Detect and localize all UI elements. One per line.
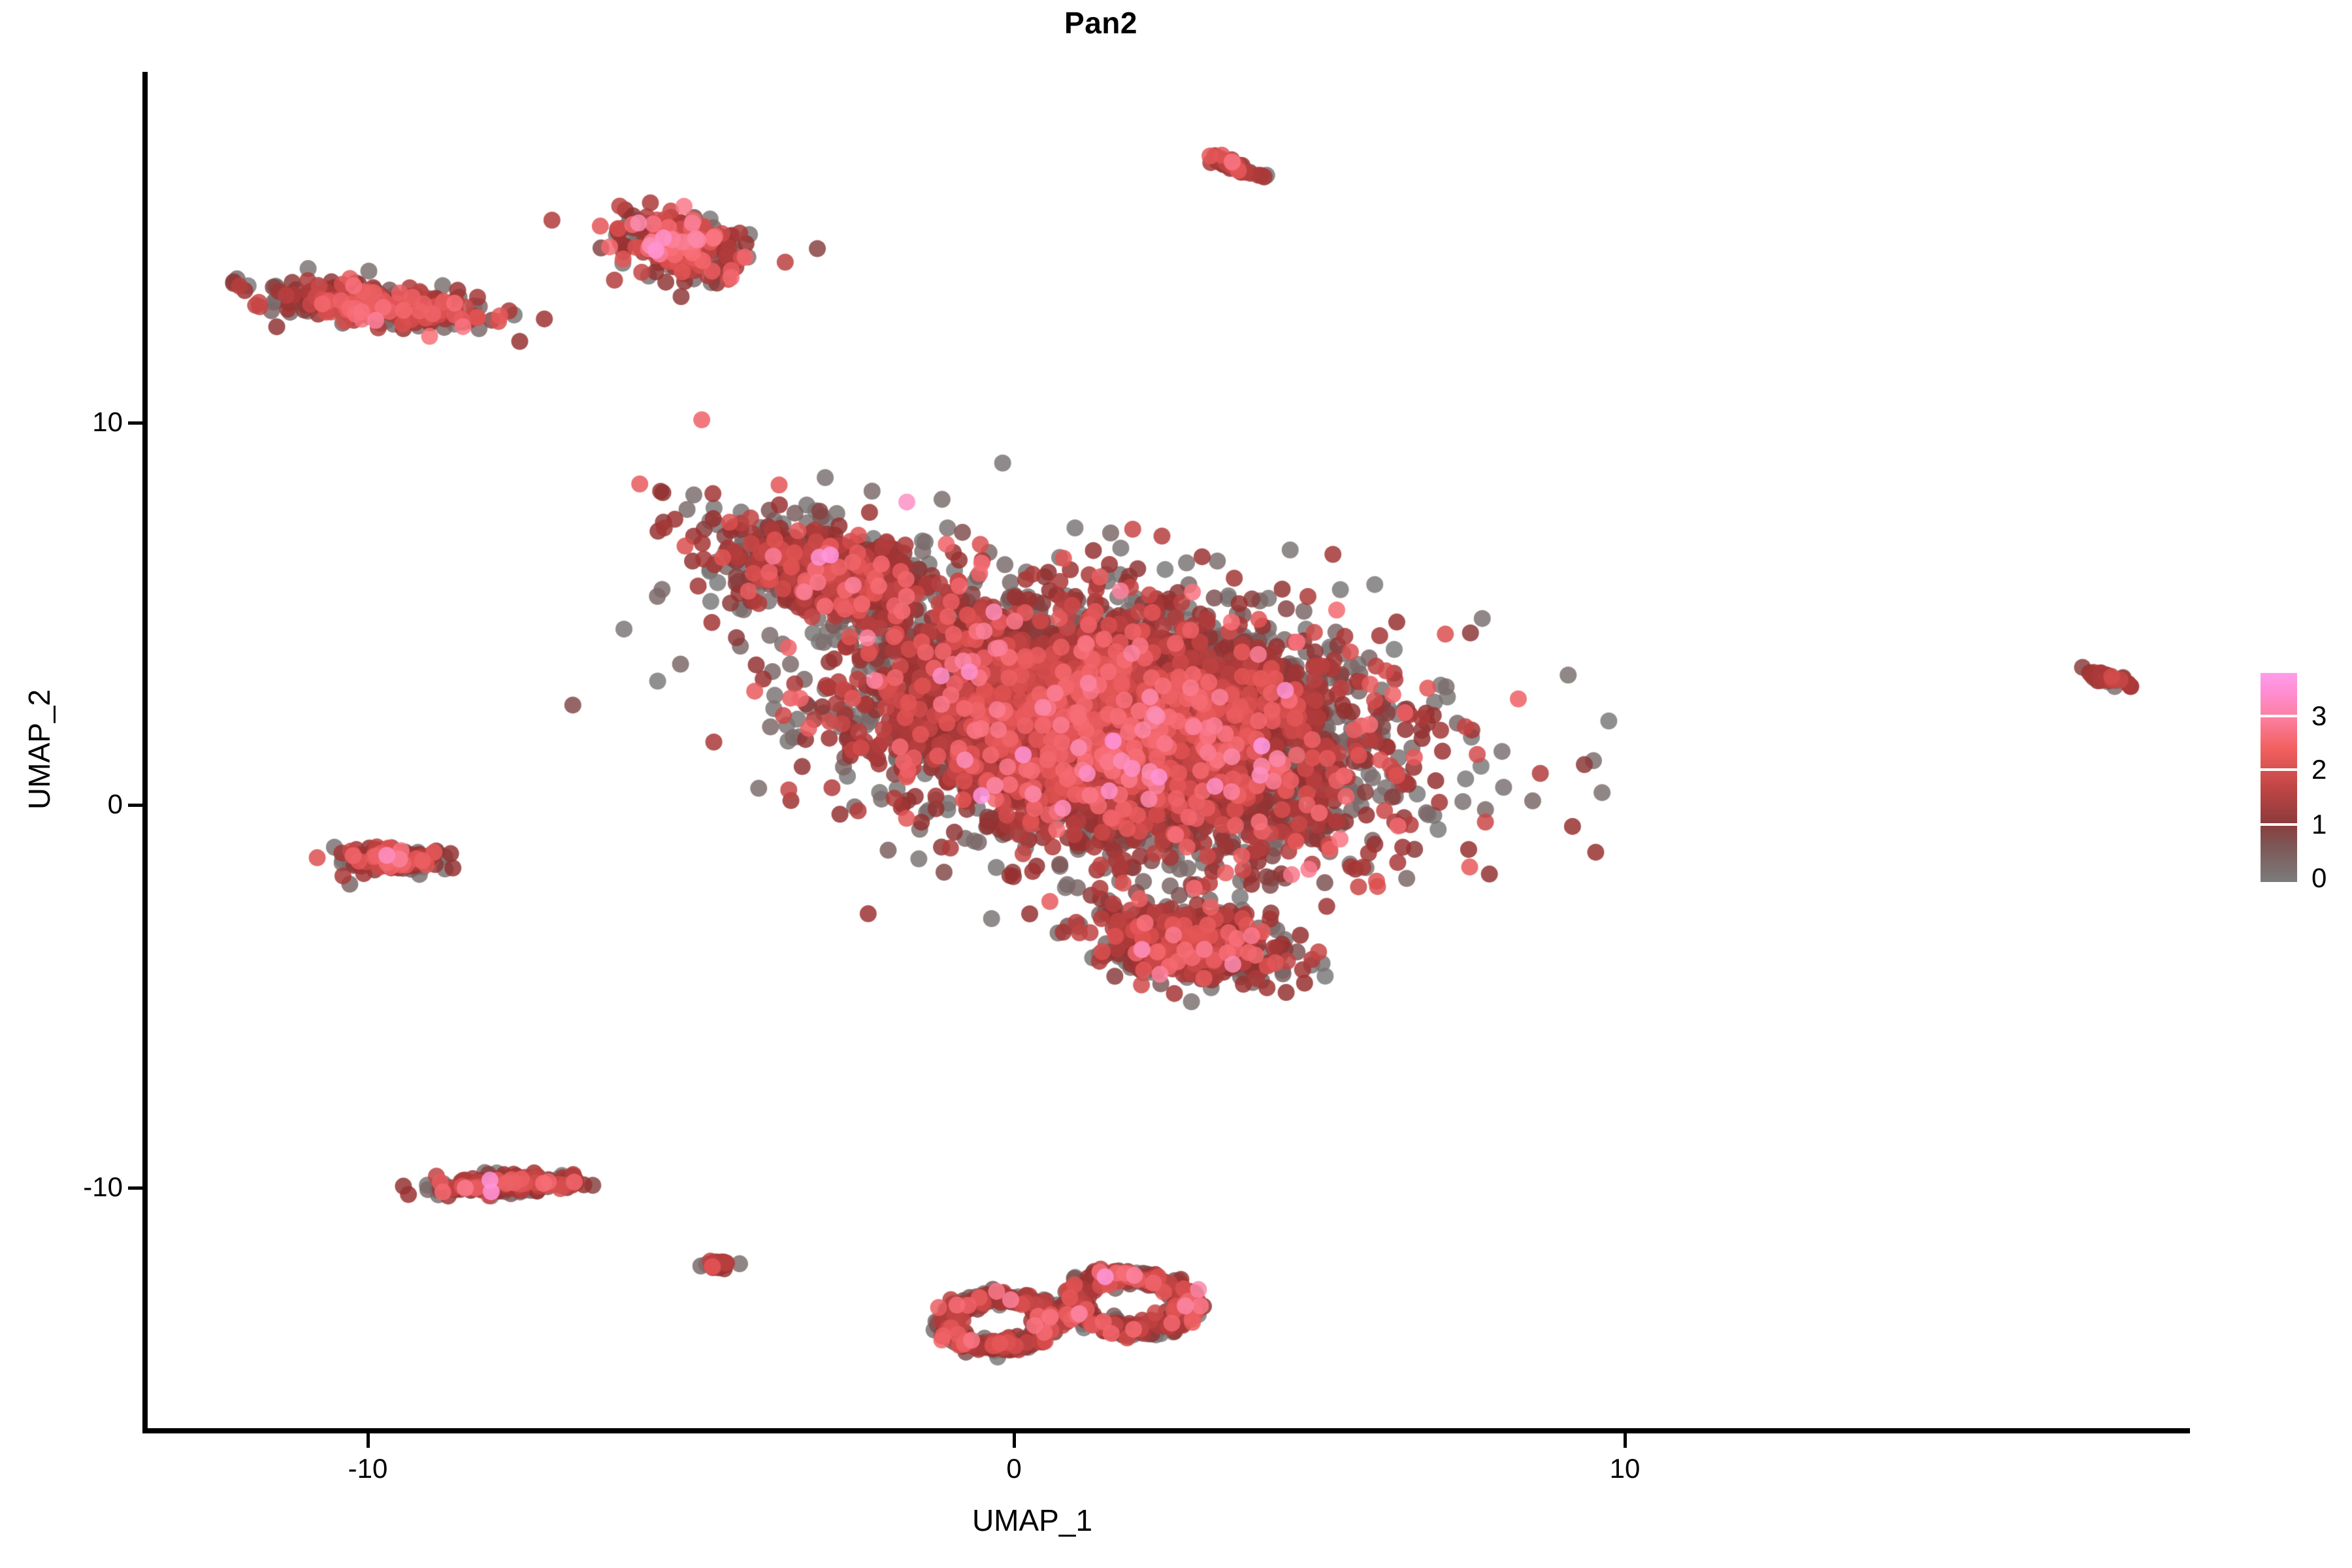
plot-panel [145, 72, 2190, 1431]
x-tick-mark-minus10 [367, 1433, 370, 1448]
y-tick-mark-10 [128, 421, 142, 425]
x-axis-line [142, 1428, 2190, 1433]
x-tick-mark-0 [1013, 1433, 1016, 1448]
colorbar-legend: 3 2 1 0 [2261, 673, 2345, 902]
y-tick-mark-minus10 [128, 1186, 142, 1190]
colorbar-tick-3 [2261, 715, 2297, 717]
umap-feature-plot: Pan2 10 0 -10 -10 0 10 UMAP_1 UMAP_2 3 2… [0, 0, 2352, 1568]
y-tick-label-minus10: -10 [83, 1171, 123, 1203]
colorbar-label-1: 1 [2311, 811, 2327, 838]
y-tick-mark-0 [128, 804, 142, 807]
y-axis-line [142, 72, 148, 1433]
x-tick-mark-10 [1624, 1433, 1627, 1448]
x-tick-label-0: 0 [1006, 1453, 1021, 1484]
x-tick-label-10: 10 [1610, 1453, 1641, 1484]
colorbar-label-3: 3 [2311, 702, 2327, 730]
colorbar-label-0: 0 [2311, 864, 2327, 892]
scatter-points-canvas [145, 72, 2190, 1431]
y-tick-label-10: 10 [92, 406, 123, 438]
colorbar-gradient [2261, 673, 2297, 882]
x-tick-label-minus10: -10 [348, 1453, 388, 1484]
y-tick-label-0: 0 [108, 789, 123, 820]
y-axis-title: UMAP_2 [22, 619, 57, 880]
page-title: Pan2 [0, 5, 2202, 41]
x-axis-title: UMAP_1 [972, 1503, 1092, 1538]
colorbar-label-2: 2 [2311, 756, 2327, 783]
colorbar-tick-2 [2261, 768, 2297, 771]
colorbar-tick-1 [2261, 823, 2297, 826]
